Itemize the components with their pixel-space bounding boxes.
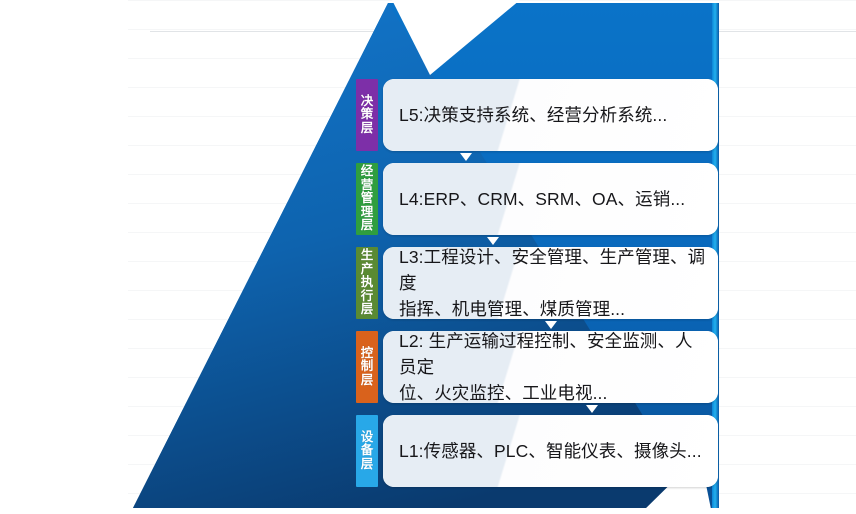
layer-tag-l1: 设 备 层 — [356, 415, 378, 487]
tag-char: 生 — [361, 249, 374, 263]
flow-arrow-icon — [586, 405, 598, 413]
layer-tag-l4: 经 营 管 理 层 — [356, 163, 378, 235]
layer-card-l3[interactable]: L3:工程设计、安全管理、生产管理、调度 指挥、机电管理、煤质管理... — [383, 247, 718, 319]
layer-row-l3[interactable]: 生 产 执 行 层 L3:工程设计、安全管理、生产管理、调度 指挥、机电管理、煤… — [356, 247, 718, 319]
tag-char: 层 — [361, 458, 374, 472]
tag-char: 层 — [361, 303, 374, 317]
flow-arrow-icon — [545, 321, 557, 329]
layer-stack: 决 策 层 L5:决策支持系统、经营分析系统... 经 营 管 理 层 L4:E… — [0, 0, 856, 514]
layer-row-l4[interactable]: 经 营 管 理 层 L4:ERP、CRM、SRM、OA、运销... — [356, 163, 718, 235]
layer-tag-l5: 决 策 层 — [356, 79, 378, 151]
tag-char: 层 — [361, 122, 374, 136]
layer-card-l2[interactable]: L2: 生产运输过程控制、安全监测、人员定 位、火灾监控、工业电视... — [383, 331, 718, 403]
layer-tag-l3: 生 产 执 行 层 — [356, 247, 378, 319]
layer-body-l5: L5:决策支持系统、经营分析系统... — [383, 79, 718, 151]
tag-char: 经 — [361, 165, 374, 179]
layer-body-l2: L2: 生产运输过程控制、安全监测、人员定 位、火灾监控、工业电视... — [383, 331, 718, 403]
layer-card-l5[interactable]: L5:决策支持系统、经营分析系统... — [383, 79, 718, 151]
layer-body-l1: L1:传感器、PLC、智能仪表、摄像头... — [383, 415, 718, 487]
flow-arrow-icon — [460, 153, 472, 161]
tag-char: 管 — [361, 192, 374, 206]
layer-body-l4: L4:ERP、CRM、SRM、OA、运销... — [383, 163, 718, 235]
flow-arrow-icon — [487, 237, 499, 245]
layer-row-l2[interactable]: 控 制 层 L2: 生产运输过程控制、安全监测、人员定 位、火灾监控、工业电视.… — [356, 331, 718, 403]
layer-row-l1[interactable]: 设 备 层 L1:传感器、PLC、智能仪表、摄像头... — [356, 415, 718, 487]
layer-tag-l2: 控 制 层 — [356, 331, 378, 403]
tag-char: 策 — [361, 108, 374, 122]
layer-card-l4[interactable]: L4:ERP、CRM、SRM、OA、运销... — [383, 163, 718, 235]
tag-char: 层 — [361, 219, 374, 233]
tag-char: 层 — [361, 374, 374, 388]
tag-char: 制 — [361, 360, 374, 374]
layer-body-l3: L3:工程设计、安全管理、生产管理、调度 指挥、机电管理、煤质管理... — [383, 247, 718, 319]
tag-char: 备 — [361, 444, 374, 458]
layer-card-l1[interactable]: L1:传感器、PLC、智能仪表、摄像头... — [383, 415, 718, 487]
tag-char: 执 — [361, 276, 374, 290]
diagram-canvas: 决 策 层 L5:决策支持系统、经营分析系统... 经 营 管 理 层 L4:E… — [0, 0, 856, 514]
layer-row-l5[interactable]: 决 策 层 L5:决策支持系统、经营分析系统... — [356, 79, 718, 151]
